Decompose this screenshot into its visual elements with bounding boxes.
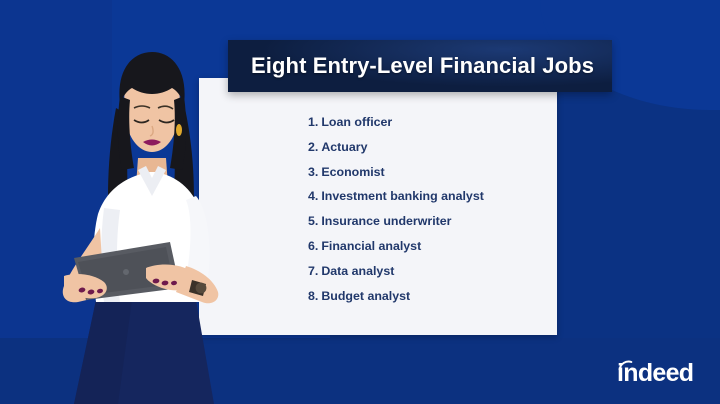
slide-canvas: 1.Loan officer 2.Actuary 3.Economist 4.I…: [0, 0, 720, 404]
title-banner: Eight Entry-Level Financial Jobs: [228, 40, 612, 92]
earring: [176, 124, 182, 136]
watch-face: [196, 283, 207, 294]
brand-wordmark: indeed: [617, 359, 693, 387]
page-title: Eight Entry-Level Financial Jobs: [228, 53, 594, 79]
tablet-camera-dot: [123, 269, 129, 275]
indeed-logo: indeed: [617, 359, 709, 389]
